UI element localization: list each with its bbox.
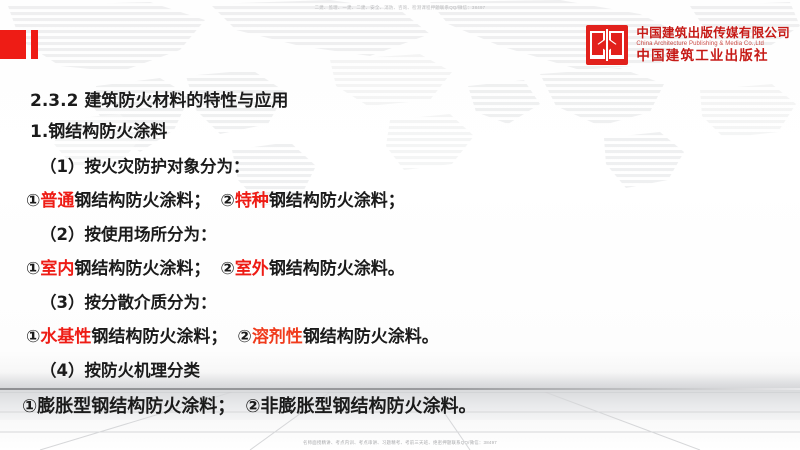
item-marker: ① xyxy=(22,396,37,417)
presentation-slide: 中国建筑出版传媒有限公司 China Architecture Publishi… xyxy=(0,0,800,450)
item-text: 钢结构防火涂料。 xyxy=(269,259,405,279)
group-2-heading: （2）按使用场所分为： xyxy=(40,221,216,245)
item-marker: ② xyxy=(220,191,234,211)
item-highlight: 室外 xyxy=(235,259,269,279)
group-4-items: ①膨胀型钢结构防火涂料；②非膨胀型钢结构防火涂料。 xyxy=(22,392,477,418)
slide-body: 2.3.2 建筑防火材料的特性与应用 1.钢结构防火涂料 （1）按火灾防护对象分… xyxy=(0,0,800,450)
item-marker: ① xyxy=(26,191,40,211)
group-4-heading: （4）按防火机理分类 xyxy=(40,357,200,381)
page-title: 2.3.2 建筑防火材料的特性与应用 xyxy=(30,86,288,111)
group-2-items: ①室内钢结构防火涂料；②室外钢结构防火涂料。 xyxy=(26,254,405,279)
item-highlight: 室内 xyxy=(40,259,74,279)
item-text: 钢结构防火涂料； xyxy=(269,191,405,211)
item-highlight: 特种 xyxy=(235,191,269,211)
item-highlight: 溶剂性 xyxy=(252,327,303,347)
item-highlight: 水基性 xyxy=(40,327,91,347)
group-1-items: ①普通钢结构防火涂料；②特种钢结构防火涂料； xyxy=(26,186,405,211)
item-text: 膨胀型钢结构防火涂料； xyxy=(37,396,235,417)
item-text: 钢结构防火涂料； xyxy=(74,259,210,279)
group-3-heading: （3）按分散介质分为： xyxy=(40,289,216,313)
item-text: 钢结构防火涂料； xyxy=(74,191,210,211)
item-marker: ① xyxy=(26,327,40,347)
item-marker: ② xyxy=(237,327,251,347)
item-highlight: 普通 xyxy=(40,191,74,211)
group-3-items: ①水基性钢结构防火涂料；②溶剂性钢结构防火涂料。 xyxy=(26,322,439,347)
item-text: 钢结构防火涂料。 xyxy=(303,327,439,347)
item-marker: ② xyxy=(245,396,260,417)
item-marker: ① xyxy=(26,259,40,279)
page-subtitle: 1.钢结构防火涂料 xyxy=(30,117,167,142)
item-marker: ② xyxy=(220,259,234,279)
item-text: 钢结构防火涂料； xyxy=(91,327,227,347)
item-text: 非膨胀型钢结构防火涂料。 xyxy=(261,396,477,417)
group-1-heading: （1）按火灾防护对象分为： xyxy=(40,153,249,177)
